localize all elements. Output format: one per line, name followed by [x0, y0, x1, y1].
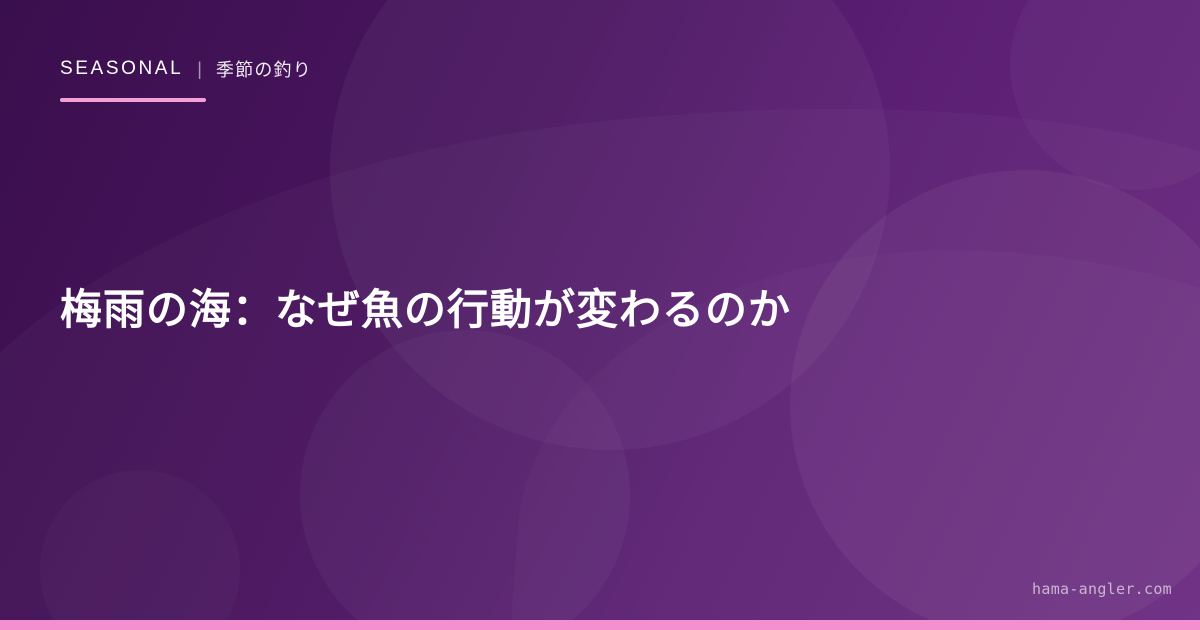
- decorative-circle-small: [40, 470, 240, 630]
- decorative-circle-large: [330, 0, 890, 450]
- category-eyebrow: SEASONAL | 季節の釣り: [60, 56, 312, 82]
- decorative-circle-corner: [1010, 0, 1200, 190]
- accent-underline: [60, 98, 206, 102]
- category-kicker: SEASONAL: [60, 58, 183, 80]
- category-label-jp: 季節の釣り: [216, 56, 312, 82]
- decorative-circle-lower: [300, 330, 630, 630]
- decorative-circle-right: [790, 170, 1200, 630]
- category-separator: |: [197, 59, 202, 80]
- bottom-accent-bar: [0, 620, 1200, 630]
- page-title: 梅雨の海：なぜ魚の行動が変わるのか: [60, 280, 1110, 341]
- site-domain: hama-angler.com: [1032, 580, 1172, 598]
- social-share-card: SEASONAL | 季節の釣り 梅雨の海：なぜ魚の行動が変わるのか hama-…: [0, 0, 1200, 630]
